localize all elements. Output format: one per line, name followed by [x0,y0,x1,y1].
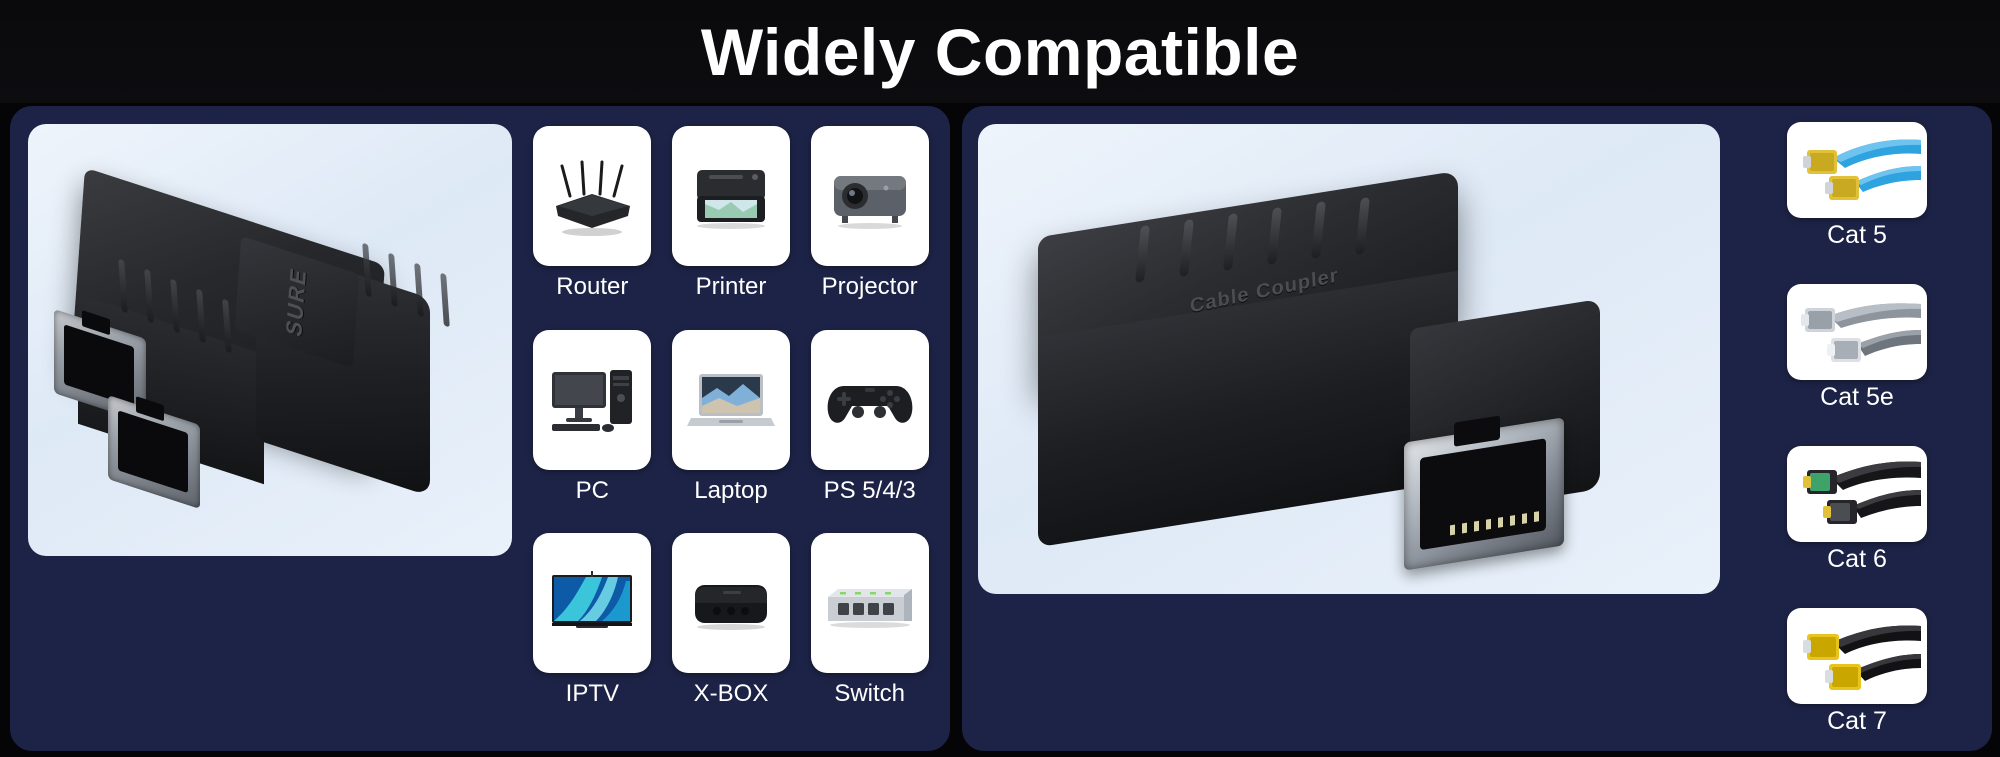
cable-tile[interactable] [1787,608,1927,704]
cable-item[interactable]: Cat 5e [1787,284,1927,410]
device-tile[interactable] [533,330,651,470]
title-bar: Widely Compatible [0,0,2000,103]
tv-icon [540,551,644,655]
device-tile[interactable] [533,533,651,673]
device-label: PC [576,479,609,503]
device-item[interactable]: Switch [805,533,934,731]
rj45-port-cavity [64,324,134,407]
ethernet-cable-icon [1793,290,1921,374]
device-tile[interactable] [672,126,790,266]
cable-tile[interactable] [1787,446,1927,542]
device-tile[interactable] [811,533,929,673]
device-item[interactable]: PS 5/4/3 [805,330,934,528]
device-item[interactable]: Projector [805,126,934,324]
cable-label: Cat 7 [1827,709,1887,734]
cable-categories-column: Cat 5 [1738,122,1976,734]
device-tile[interactable] [672,533,790,673]
set-top-box-icon [679,551,783,655]
printer-icon [679,144,783,248]
device-label: X-BOX [694,682,769,706]
left-panel: SURE [10,106,950,751]
right-panel: Cable Coupler [962,106,1992,751]
router-icon [540,144,644,248]
rj45-port-cavity [118,410,188,493]
cable-item[interactable]: Cat 5 [1787,122,1927,248]
device-label: Router [556,275,628,299]
device-item[interactable]: X-BOX [667,533,796,731]
left-product-photo: SURE [28,124,512,556]
ethernet-cable-icon [1793,452,1921,536]
device-item[interactable]: PC [528,330,657,528]
device-label: IPTV [566,682,619,706]
cable-tile[interactable] [1787,122,1927,218]
device-tile[interactable] [672,330,790,470]
cable-item[interactable]: Cat 7 [1787,608,1927,734]
rj45-gold-pins [1450,510,1546,535]
device-label: Printer [696,275,767,299]
rj45-splitter-illustration: SURE [42,174,502,534]
device-tile[interactable] [811,330,929,470]
desktop-pc-icon [540,348,644,452]
network-switch-icon [818,551,922,655]
device-label: PS 5/4/3 [824,479,916,503]
cable-label: Cat 6 [1827,547,1887,572]
laptop-icon [679,348,783,452]
infographic-root: Widely Compatible SURE [0,0,2000,757]
device-tile[interactable] [533,126,651,266]
device-tile[interactable] [811,126,929,266]
projector-icon [818,144,922,248]
ethernet-cable-icon [1793,614,1921,698]
device-label: Laptop [694,479,767,503]
ethernet-cable-icon [1793,128,1921,212]
device-label: Projector [822,275,918,299]
rj45-port-cavity [1420,438,1546,550]
page-title: Widely Compatible [701,19,1299,85]
device-item[interactable]: Laptop [667,330,796,528]
cable-tile[interactable] [1787,284,1927,380]
rj45-splitter-front-illustration: Cable Coupler [1018,184,1698,584]
gamepad-icon [818,348,922,452]
brand-emboss-text: SURE [282,264,313,340]
right-product-photo: Cable Coupler [978,124,1720,594]
device-item[interactable]: Router [528,126,657,324]
compatible-devices-grid: Router Printer [528,126,934,731]
vent-rib [440,273,450,328]
cable-label: Cat 5 [1827,223,1887,248]
cable-label: Cat 5e [1820,385,1894,410]
device-item[interactable]: IPTV [528,533,657,731]
device-item[interactable]: Printer [667,126,796,324]
device-label: Switch [834,682,905,706]
rj45-port [1404,417,1564,570]
cable-item[interactable]: Cat 6 [1787,446,1927,572]
